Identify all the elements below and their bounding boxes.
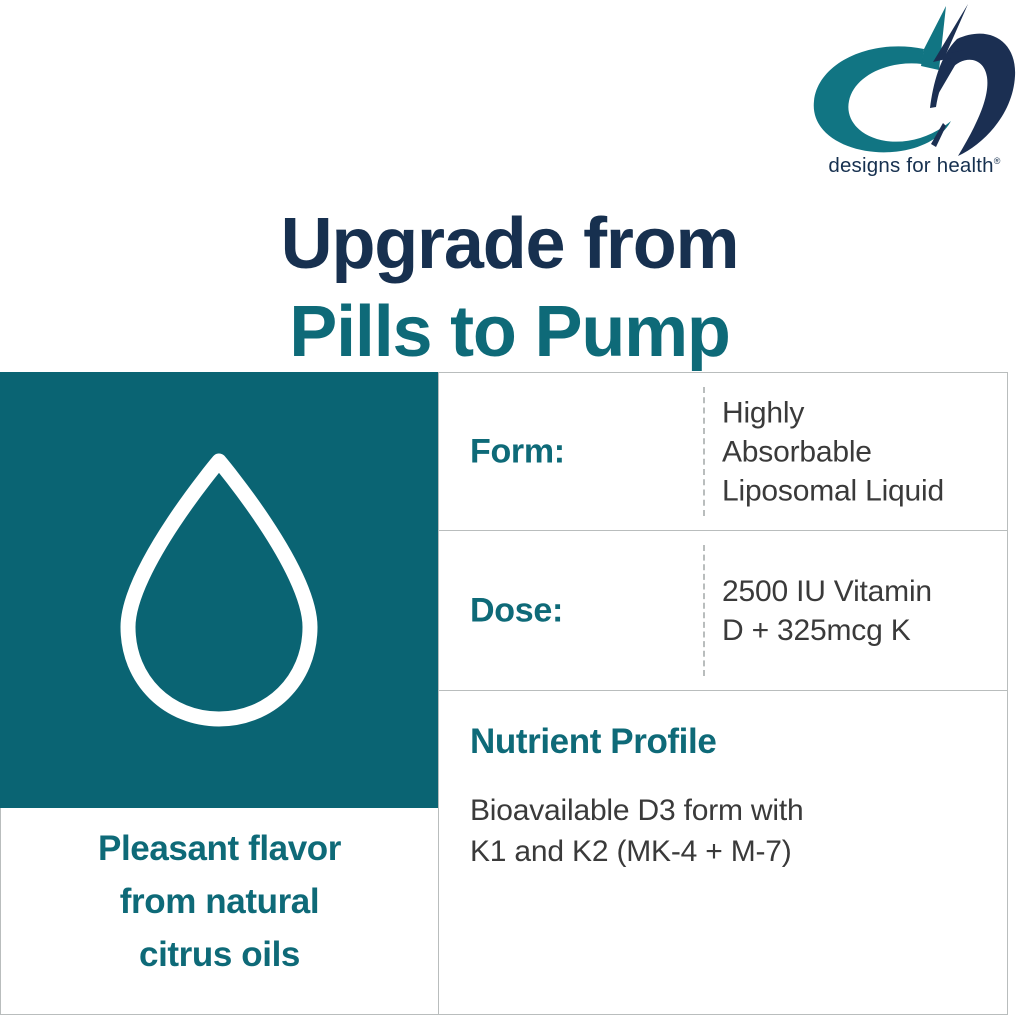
spec-row-dashed-divider	[703, 387, 705, 516]
spec-value-dose-line-2: D + 325mcg K	[722, 614, 911, 647]
feature-caption-line-3: citrus oils	[139, 935, 300, 974]
spec-row-nutrient-profile: Nutrient Profile Bioavailable D3 form wi…	[439, 691, 1008, 1014]
designs-for-health-logo-icon	[812, 4, 1017, 156]
feature-caption-line-1: Pleasant flavor	[98, 829, 341, 868]
water-droplet-icon	[114, 451, 324, 729]
table-border-bottom	[0, 1014, 1008, 1015]
spec-value-dose: 2500 IU Vitamin D + 325mcg K	[722, 572, 1002, 650]
page-title-line-2: Pills to Pump	[0, 288, 1019, 376]
spec-value-dose-line-1: 2500 IU Vitamin	[722, 575, 932, 608]
page-title: Upgrade from Pills to Pump	[0, 200, 1019, 376]
spec-value-form-line-2: Absorbable	[722, 435, 872, 468]
spec-label-form: Form:	[470, 432, 565, 471]
registered-trademark-icon: ®	[994, 156, 1001, 166]
spec-row-dose: Dose: 2500 IU Vitamin D + 325mcg K	[439, 531, 1008, 690]
page-title-line-1: Upgrade from	[0, 200, 1019, 288]
feature-caption-line-2: from natural	[120, 882, 319, 921]
spec-row-form: Form: Highly Absorbable Liposomal Liquid	[439, 373, 1008, 530]
product-spec-table: Pleasant flavor from natural citrus oils…	[0, 372, 1008, 1015]
logo-wordmark-text: designs for health	[828, 154, 993, 177]
feature-caption: Pleasant flavor from natural citrus oils	[1, 822, 438, 981]
nutrient-profile-body: Bioavailable D3 form with K1 and K2 (MK-…	[470, 790, 988, 872]
spec-value-form: Highly Absorbable Liposomal Liquid	[722, 393, 1002, 510]
nutrient-profile-body-line-2: K1 and K2 (MK-4 + M-7)	[470, 835, 792, 868]
spec-label-dose: Dose:	[470, 591, 563, 630]
spec-value-form-line-1: Highly	[722, 396, 804, 429]
nutrient-profile-body-line-1: Bioavailable D3 form with	[470, 794, 803, 827]
feature-image-panel	[0, 372, 438, 808]
spec-row-dashed-divider	[703, 545, 705, 676]
brand-logo: designs for health®	[812, 4, 1017, 200]
spec-value-form-line-3: Liposomal Liquid	[722, 474, 944, 507]
logo-wordmark: designs for health®	[812, 154, 1017, 178]
nutrient-profile-title: Nutrient Profile	[470, 722, 716, 762]
